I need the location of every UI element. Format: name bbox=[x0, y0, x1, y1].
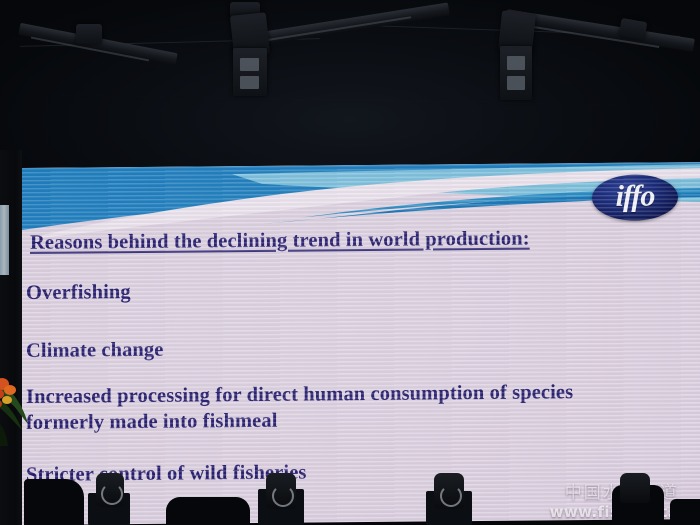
stage-light-head bbox=[500, 46, 532, 100]
led-screen: iffo Reasons behind the declining trend … bbox=[22, 162, 700, 525]
moving-head-lens-ring bbox=[101, 483, 123, 505]
moving-head-light bbox=[620, 473, 650, 503]
foreground-equipment bbox=[24, 479, 84, 525]
bullet-climate-change: Climate change bbox=[26, 339, 163, 363]
lamp-lens bbox=[507, 76, 525, 90]
venue-ceiling bbox=[0, 0, 700, 172]
lighting-truss bbox=[250, 2, 450, 46]
foreground-equipment bbox=[670, 499, 700, 525]
flower-arrangement bbox=[0, 378, 42, 446]
slide-content: Reasons behind the declining trend in wo… bbox=[22, 162, 700, 525]
iffo-logo-text: iffo bbox=[616, 181, 655, 214]
photo-of-conference-screen: iffo Reasons behind the declining trend … bbox=[0, 0, 700, 525]
bullet-increased-processing-line1: Increased processing for direct human co… bbox=[26, 381, 573, 409]
lamp-lens bbox=[507, 56, 525, 70]
stage-light-fixture bbox=[76, 24, 102, 44]
foreground-equipment bbox=[166, 497, 250, 525]
moving-head-lens-ring bbox=[440, 485, 462, 507]
lamp-lens bbox=[240, 58, 259, 71]
adjacent-panel-edge bbox=[0, 205, 9, 275]
bullet-overfishing: Overfishing bbox=[26, 281, 131, 305]
moving-head-lens-ring bbox=[272, 485, 294, 507]
ceiling-cable bbox=[60, 95, 660, 106]
flower-arrangement-graphic bbox=[0, 378, 42, 446]
bullet-increased-processing-line2: formerly made into fishmeal bbox=[26, 410, 278, 435]
lamp-lens bbox=[240, 76, 259, 89]
slide-title: Reasons behind the declining trend in wo… bbox=[30, 228, 530, 255]
